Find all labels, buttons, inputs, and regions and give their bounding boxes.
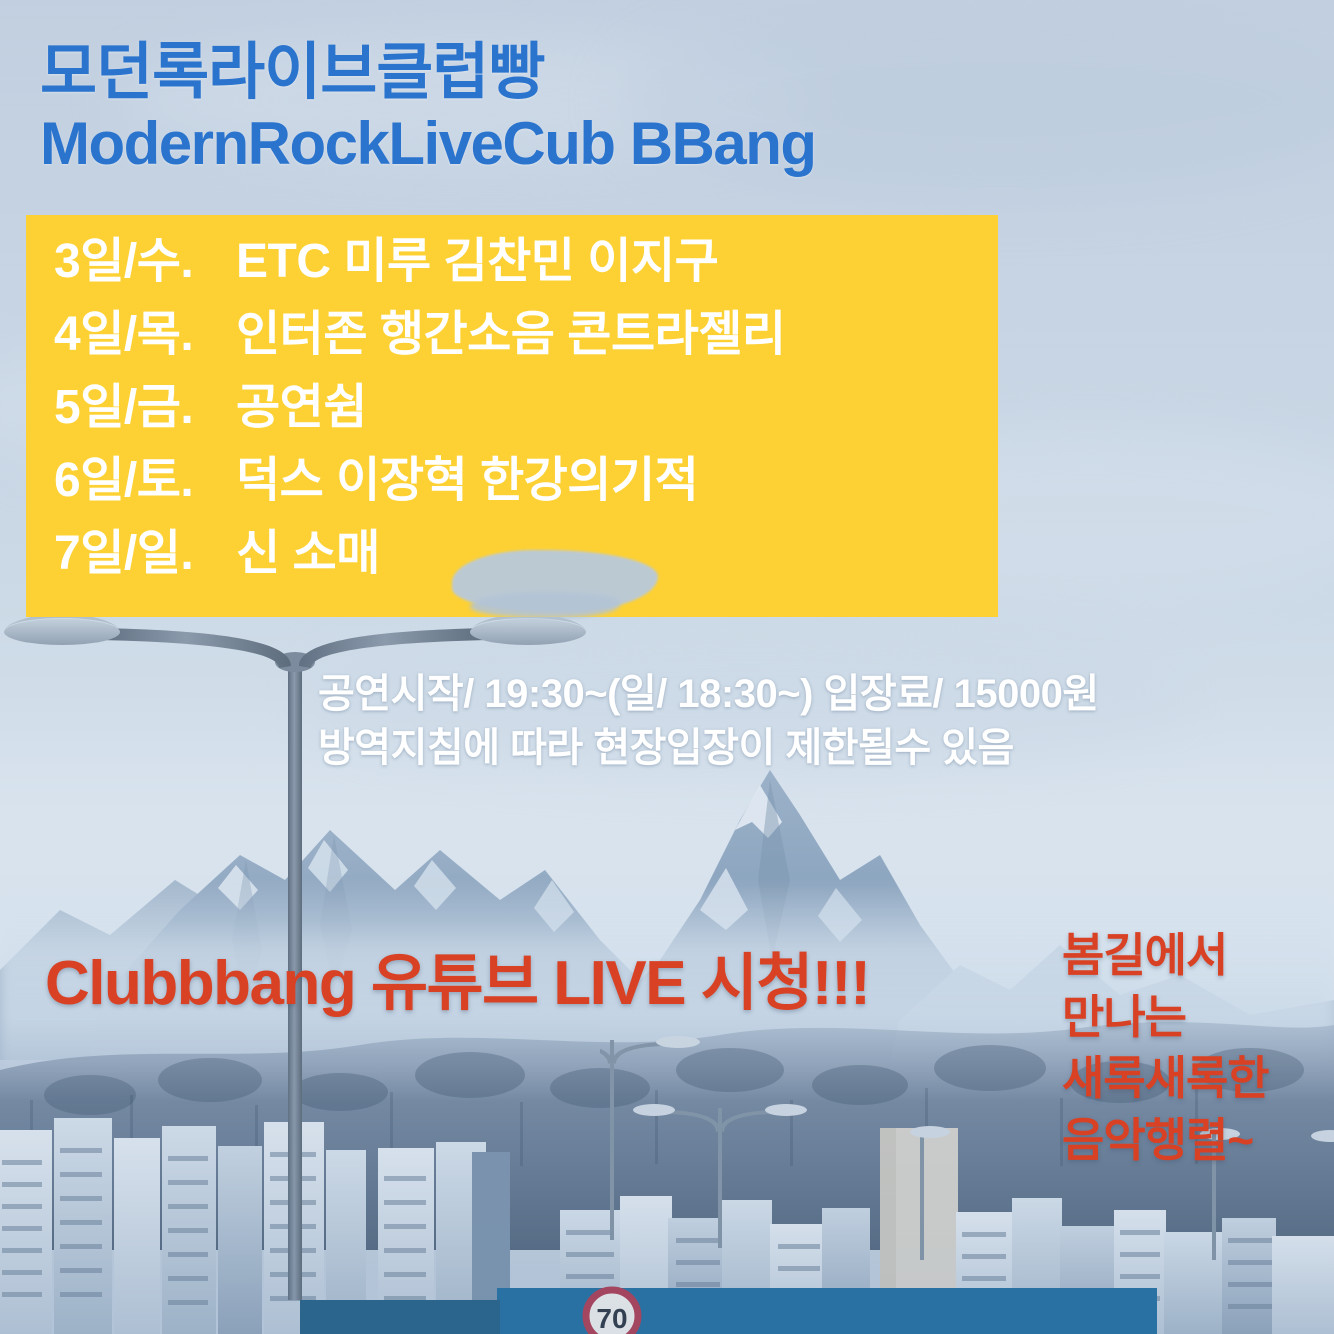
info-covid-notice: 방역지침에 따라 현장입장이 제한될수 있음 [318,722,1218,776]
slogan-line: 음악행렬~ [1062,1115,1334,1167]
schedule-artists: 인터존 행간소음 콘트라젤리 [236,299,786,372]
schedule-day: 7일/일. [54,518,236,591]
speed-limit-value: 70 [596,1303,627,1334]
venue-title: 모던록라이브클럽빵 ModernRockLiveCub BBang [40,40,1040,175]
schedule-artists: 공연쉼 [236,372,367,445]
brush-smudge-mark-secondary [470,592,620,618]
schedule-day: 6일/토. [54,445,236,518]
schedule-artists: 신 소매 [236,518,380,591]
schedule-row: 4일/목.인터존 행간소음 콘트라젤리 [26,299,998,372]
schedule-day: 4일/목. [54,299,236,372]
show-info: 공연시작/ 19:30~(일/ 18:30~) 입장료/ 15000원 방역지침… [318,668,1218,775]
slogan-line: 새록새록한 [1062,1053,1334,1105]
slogan-line: 봄길에서 [1062,930,1334,982]
slogan-block: 봄길에서만나는새록새록한음악행렬~ [1062,930,1334,1176]
schedule-row: 3일/수.ETC 미루 김찬민 이지구 [26,226,998,299]
schedule-day: 3일/수. [54,226,236,299]
road-signboard-secondary [300,1300,500,1334]
venue-name-korean: 모던록라이브클럽빵 [40,40,1040,106]
schedule-artists: 덕스 이장혁 한강의기적 [236,445,698,518]
schedule-row: 5일/금.공연쉼 [26,372,998,445]
schedule-artists: ETC 미루 김찬민 이지구 [236,226,718,299]
schedule-day: 5일/금. [54,372,236,445]
schedule-list: 3일/수.ETC 미루 김찬민 이지구4일/목.인터존 행간소음 콘트라젤리5일… [26,226,998,591]
poster: 70 [0,0,1334,1334]
youtube-live-headline: Clubbbang 유튜브 LIVE 시청!!! [45,932,869,1022]
schedule-row: 6일/토.덕스 이장혁 한강의기적 [26,445,998,518]
info-showtime-and-price: 공연시작/ 19:30~(일/ 18:30~) 입장료/ 15000원 [318,668,1218,722]
slogan-line: 만나는 [1062,992,1334,1044]
venue-name-english: ModernRockLiveCub BBang [40,112,1040,176]
